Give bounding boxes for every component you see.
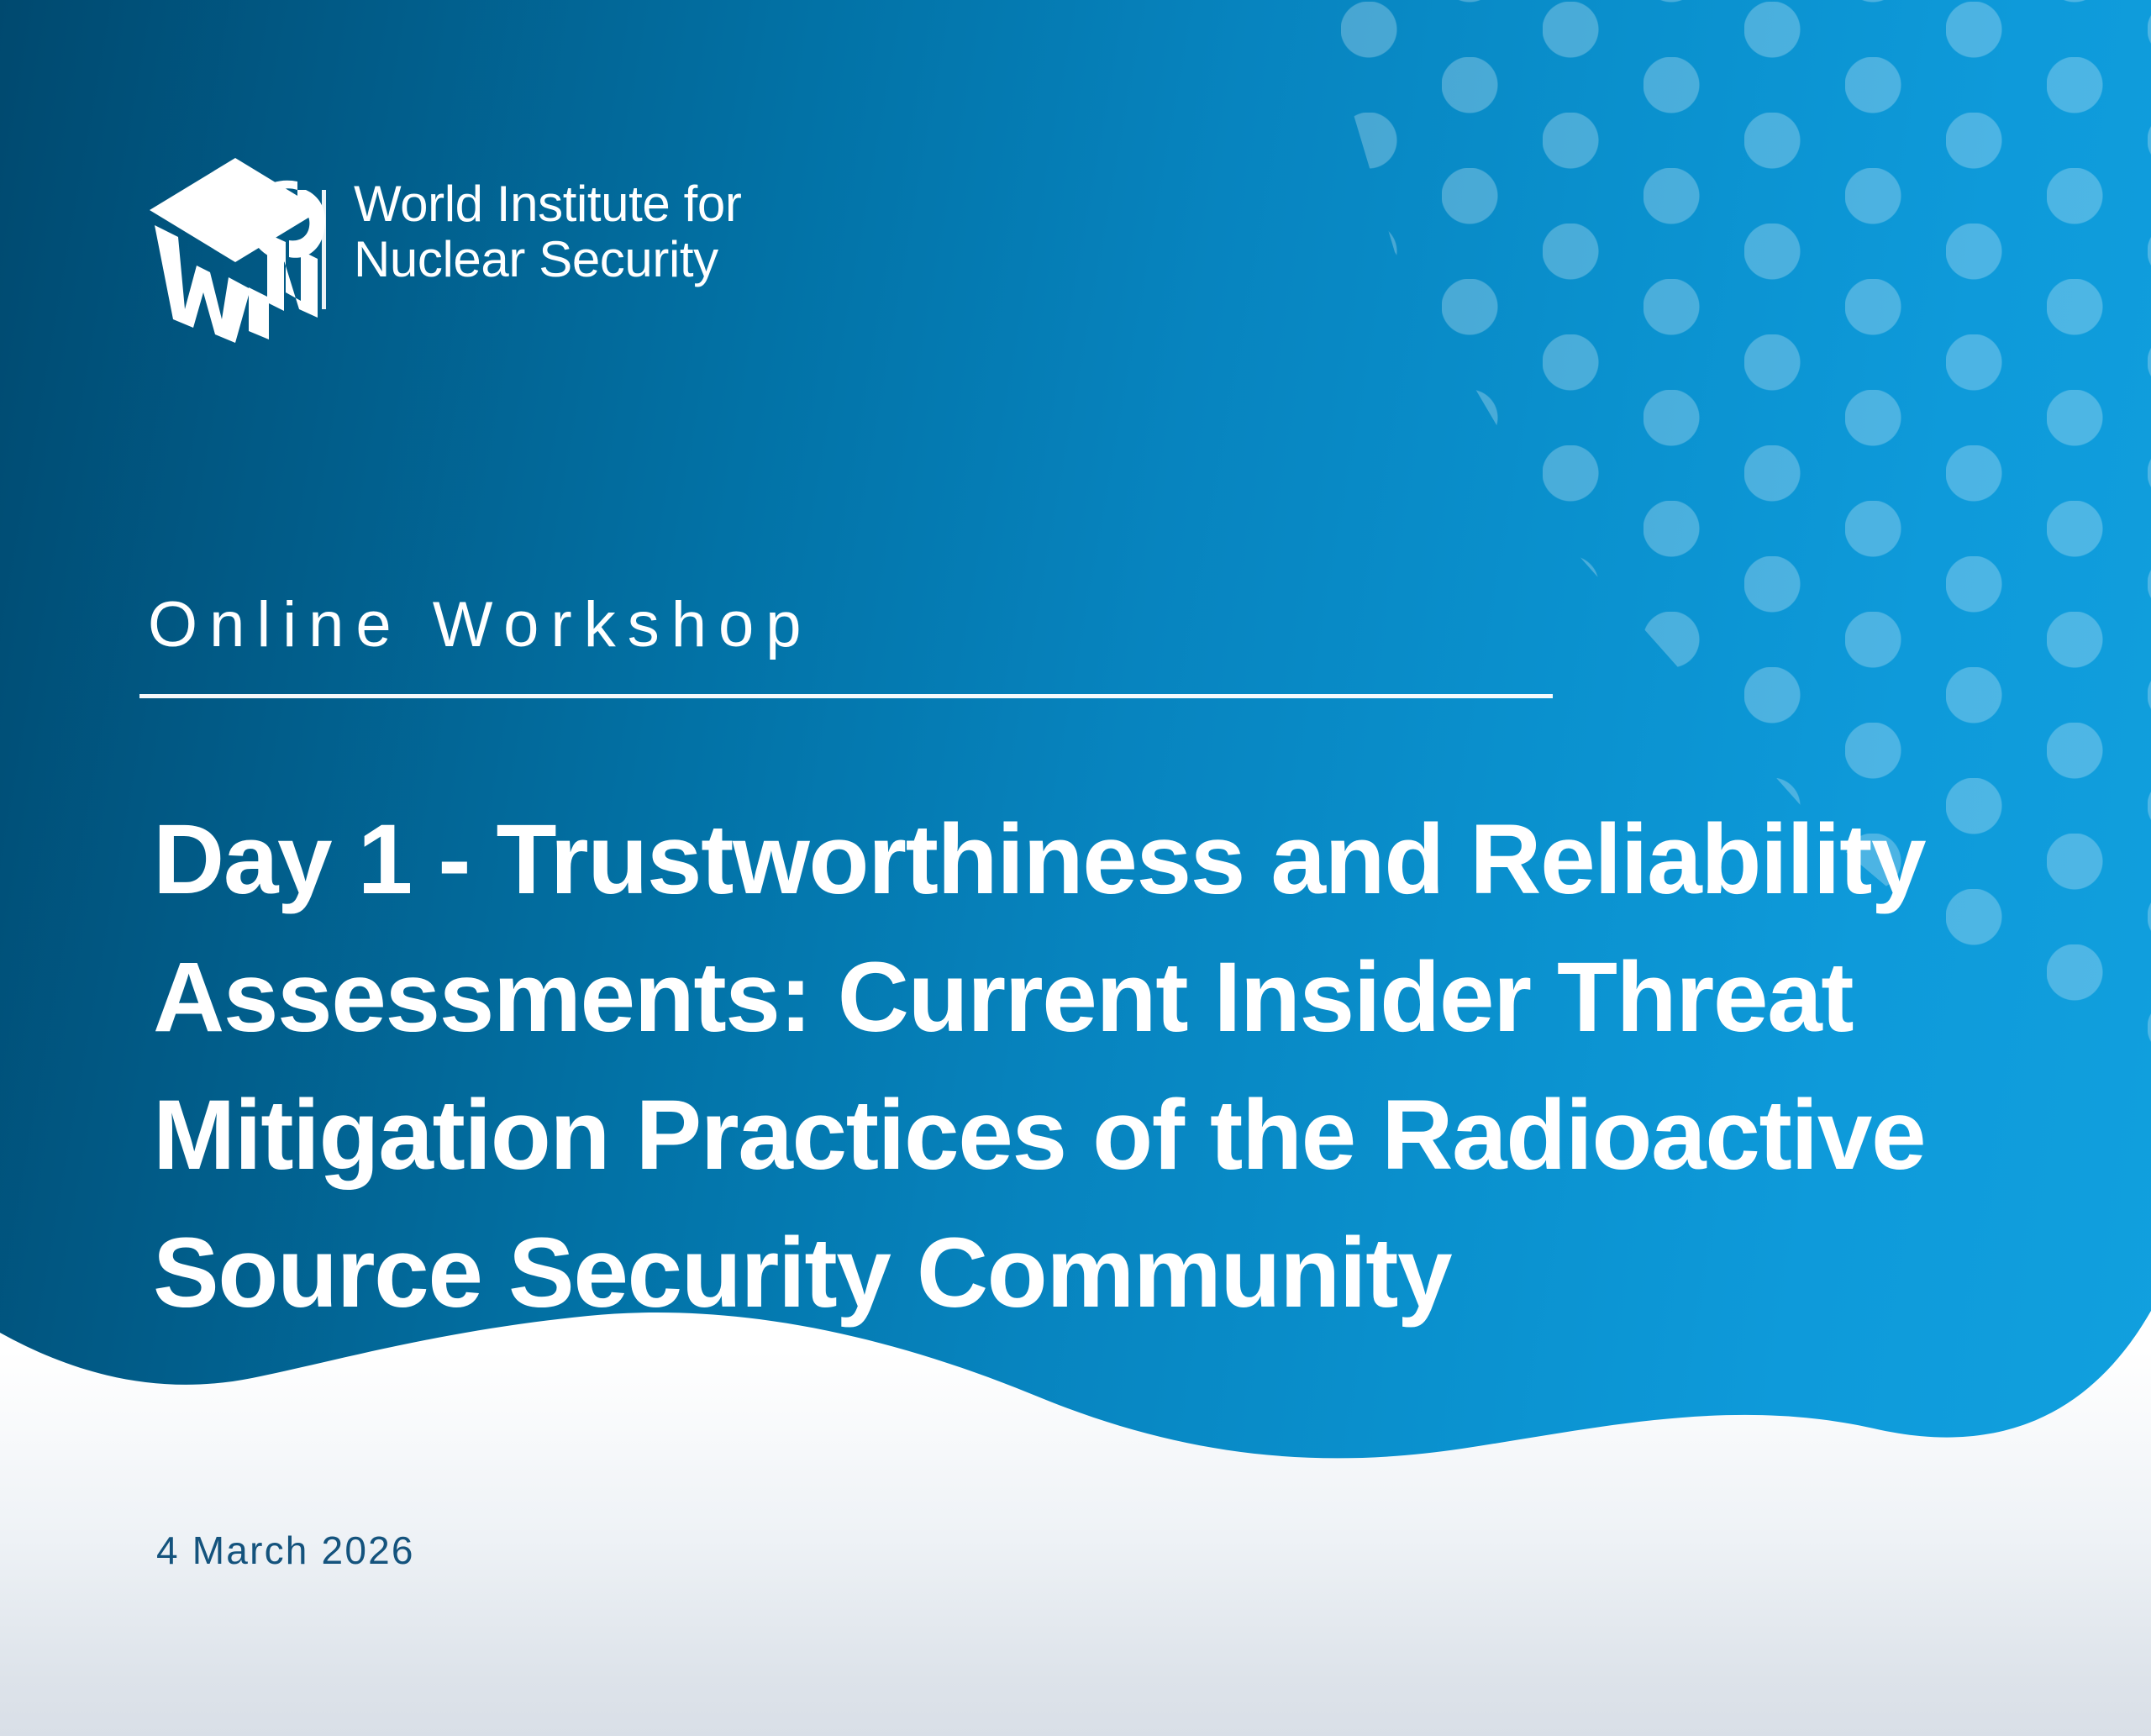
title-line: Assessments: Current Insider Threat: [153, 942, 1853, 1053]
wins-logo-lockup: World Institute for Nuclear Security: [141, 153, 897, 346]
title-slide: World Institute for Nuclear Security Onl…: [0, 0, 2151, 1736]
organisation-name: World Institute for Nuclear Security: [354, 176, 741, 287]
title-rule-divider: [139, 694, 1553, 698]
wins-cube-logo-icon: [141, 153, 329, 345]
title-line: Day 1 - Trustworthiness and Reliability: [153, 804, 1925, 915]
logo-divider: [322, 190, 326, 309]
title-line: Mitigation Practices of the Radioactive: [153, 1080, 1925, 1191]
eyebrow-label: Online Workshop: [148, 588, 813, 661]
event-date: 4 March 2026: [156, 1528, 415, 1573]
page-title: Day 1 - Trustworthiness and Reliability …: [153, 791, 2060, 1342]
title-line: Source Security Community: [153, 1218, 1451, 1328]
